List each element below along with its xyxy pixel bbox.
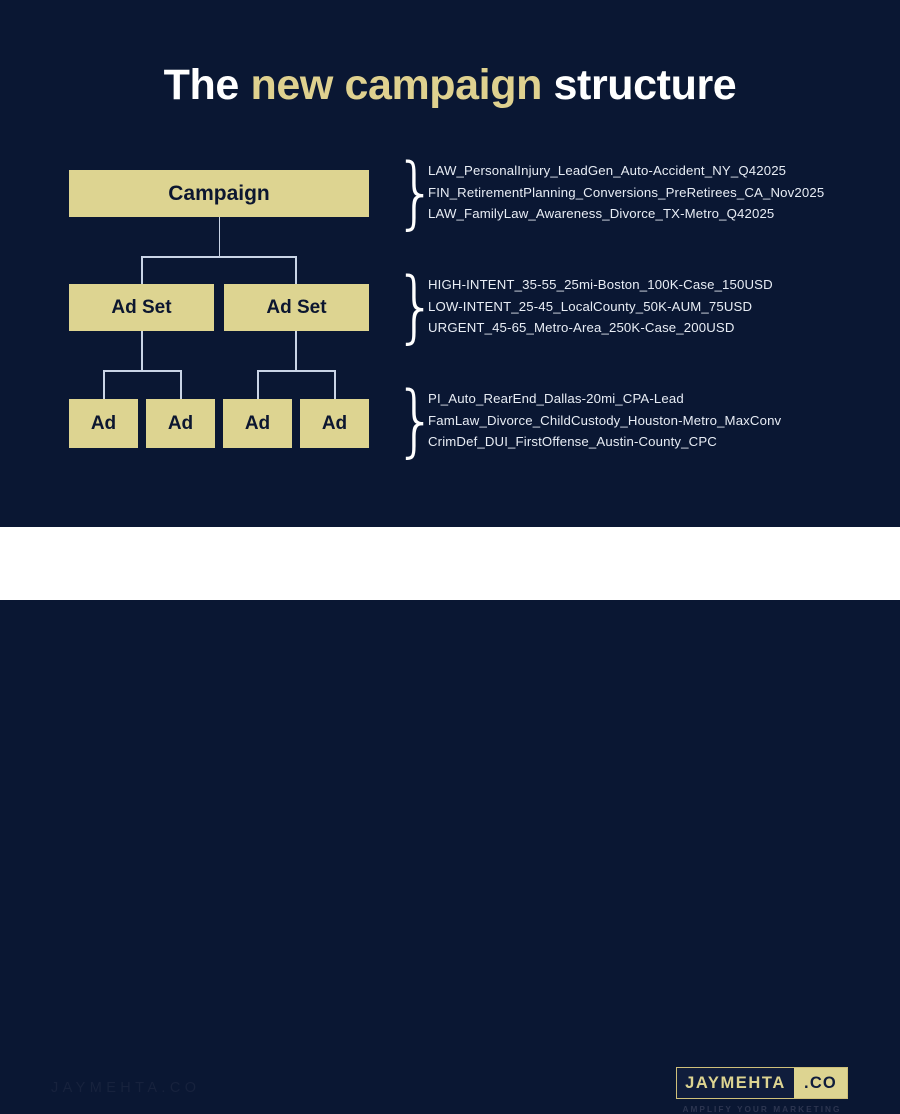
annotation-line: LOW-INTENT_25-45_LocalCounty_50K-AUM_75U… (428, 296, 773, 318)
brand-logo[interactable]: JAYMEHTA .CO AMPLIFY YOUR MARKETING (676, 1067, 848, 1114)
connector-ad-2-drop (180, 370, 182, 399)
brand-logo-tagline: AMPLIFY YOUR MARKETING (676, 1104, 848, 1114)
annotation-group-ad-set: } HIGH-INTENT_35-55_25mi-Boston_100K-Cas… (393, 274, 773, 339)
annotation-group-ad: } PI_Auto_RearEnd_Dallas-20mi_CPA-Lead F… (393, 388, 781, 453)
slide-canvas: The new campaign structure Campaign Ad S… (0, 0, 900, 600)
annotation-campaign-lines: LAW_PersonalInjury_LeadGen_Auto-Accident… (428, 160, 824, 225)
footer-bar: JAYMEHTA.CO JAYMEHTA .CO AMPLIFY YOUR MA… (0, 527, 900, 600)
node-ad-4[interactable]: Ad (300, 399, 369, 448)
connector-adset-2-stem (295, 331, 297, 371)
connector-adset-2-bus (257, 370, 335, 372)
annotation-line: FamLaw_Divorce_ChildCustody_Houston-Metr… (428, 410, 781, 432)
connector-adset-1-stem (141, 331, 143, 371)
node-ad-3[interactable]: Ad (223, 399, 292, 448)
node-ad-1-label: Ad (91, 413, 116, 435)
annotation-group-campaign: } LAW_PersonalInjury_LeadGen_Auto-Accide… (393, 160, 824, 225)
node-ad-set-2-label: Ad Set (266, 297, 326, 319)
connector-ad-4-drop (334, 370, 336, 399)
annotation-line: LAW_FamilyLaw_Awareness_Divorce_TX-Metro… (428, 203, 824, 225)
node-campaign-label: Campaign (168, 182, 270, 206)
footer-wordmark: JAYMEHTA.CO (51, 1080, 200, 1096)
connector-adset-1-bus (103, 370, 181, 372)
annotation-line: PI_Auto_RearEnd_Dallas-20mi_CPA-Lead (428, 388, 781, 410)
connector-adset-2-drop (295, 256, 297, 284)
node-ad-3-label: Ad (245, 413, 270, 435)
annotation-line: HIGH-INTENT_35-55_25mi-Boston_100K-Case_… (428, 274, 773, 296)
node-ad-set-1[interactable]: Ad Set (69, 284, 214, 331)
node-ad-set-2[interactable]: Ad Set (224, 284, 369, 331)
node-ad-2-label: Ad (168, 413, 193, 435)
annotation-ad-lines: PI_Auto_RearEnd_Dallas-20mi_CPA-Lead Fam… (428, 388, 781, 453)
node-ad-4-label: Ad (322, 413, 347, 435)
connector-adset-1-drop (141, 256, 143, 284)
node-campaign[interactable]: Campaign (69, 170, 369, 217)
connector-campaign-bus (141, 256, 296, 258)
connector-ad-3-drop (257, 370, 259, 399)
connector-ad-1-drop (103, 370, 105, 399)
annotation-line: FIN_RetirementPlanning_Conversions_PreRe… (428, 182, 824, 204)
node-ad-1[interactable]: Ad (69, 399, 138, 448)
annotation-line: CrimDef_DUI_FirstOffense_Austin-County_C… (428, 431, 781, 453)
brand-logo-badge: JAYMEHTA .CO (676, 1067, 848, 1099)
brand-logo-tld: .CO (794, 1068, 847, 1098)
annotation-ad-set-lines: HIGH-INTENT_35-55_25mi-Boston_100K-Case_… (428, 274, 773, 339)
node-ad-set-1-label: Ad Set (111, 297, 171, 319)
annotation-line: LAW_PersonalInjury_LeadGen_Auto-Accident… (428, 160, 824, 182)
annotation-line: URGENT_45-65_Metro-Area_250K-Case_200USD (428, 317, 773, 339)
brand-logo-name: JAYMEHTA (677, 1068, 794, 1098)
node-ad-2[interactable]: Ad (146, 399, 215, 448)
connector-campaign-stem (219, 217, 221, 257)
